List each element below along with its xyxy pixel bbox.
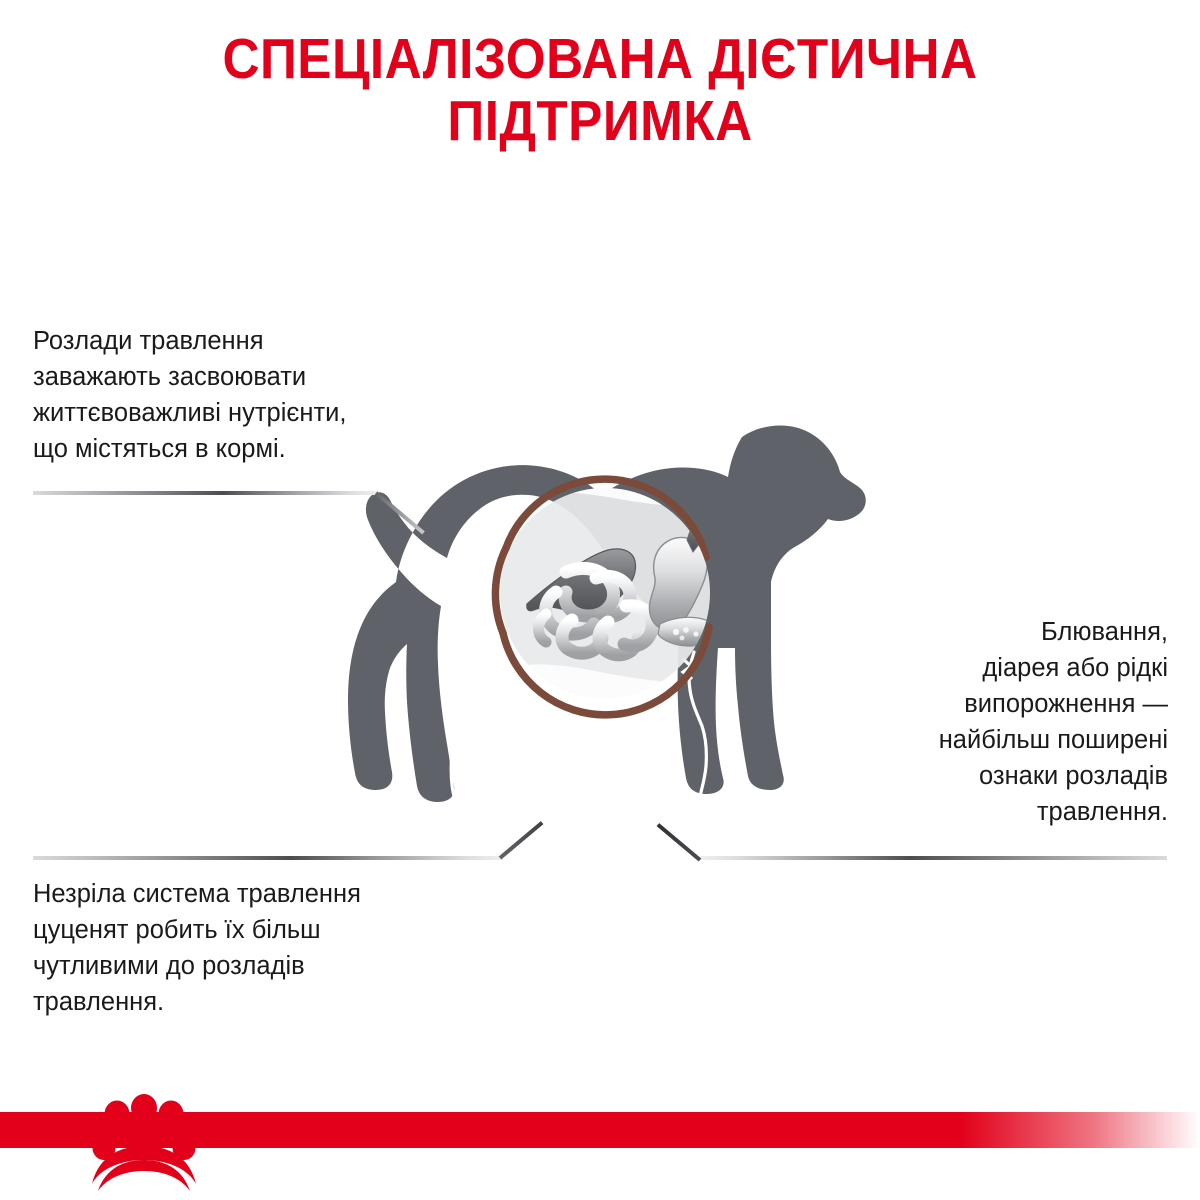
- illustration-artwork: [0, 0, 1200, 1200]
- callout-text-bottom-left: Незріла система травлення цуценят робить…: [33, 876, 483, 1020]
- connector-line-bottom-left: [33, 856, 503, 860]
- infographic-root: СПЕЦІАЛІЗОВАНА ДІЄТИЧНА ПІДТРИМКА: [0, 0, 1200, 1200]
- royal-canin-crown-logo: [68, 1092, 220, 1192]
- callout-text-top-left: Розлади травлення заважають засвоювати ж…: [33, 323, 463, 467]
- connector-line-top-left: [33, 491, 378, 495]
- callout-text-right: Блювання, діарея або рідкі випорожнення …: [828, 614, 1168, 830]
- connector-line-right: [700, 856, 1167, 860]
